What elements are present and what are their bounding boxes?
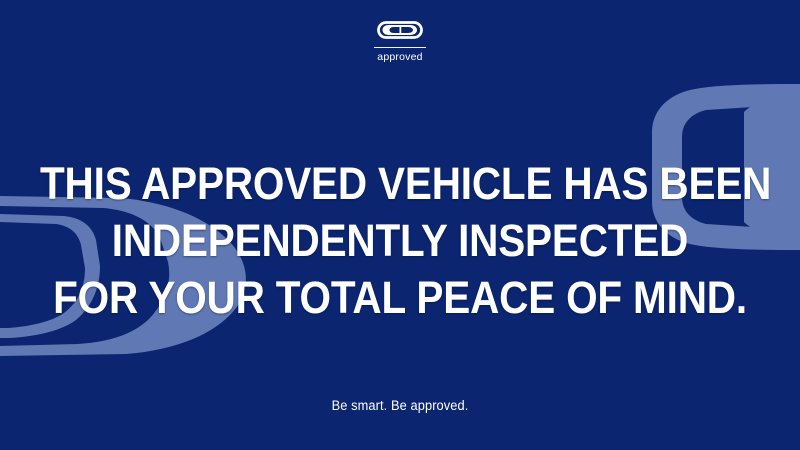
page-headline: THIS APPROVED VEHICLE HAS BEEN INDEPENDE… xyxy=(0,155,800,326)
approved-car-badge-icon xyxy=(377,18,423,42)
headline-line-2: INDEPENDENTLY INSPECTED xyxy=(40,212,760,269)
brand-logo-lockup: approved xyxy=(0,18,800,63)
headline-line-3: FOR YOUR TOTAL PEACE OF MIND. xyxy=(40,269,760,326)
headline-line-1: THIS APPROVED VEHICLE HAS BEEN xyxy=(40,155,760,212)
logo-divider-rule xyxy=(374,47,426,48)
logo-wordmark: approved xyxy=(377,52,422,63)
brand-tagline: Be smart. Be approved. xyxy=(20,398,780,413)
approved-vehicle-banner: approved THIS APPROVED VEHICLE HAS BEEN … xyxy=(0,0,800,450)
